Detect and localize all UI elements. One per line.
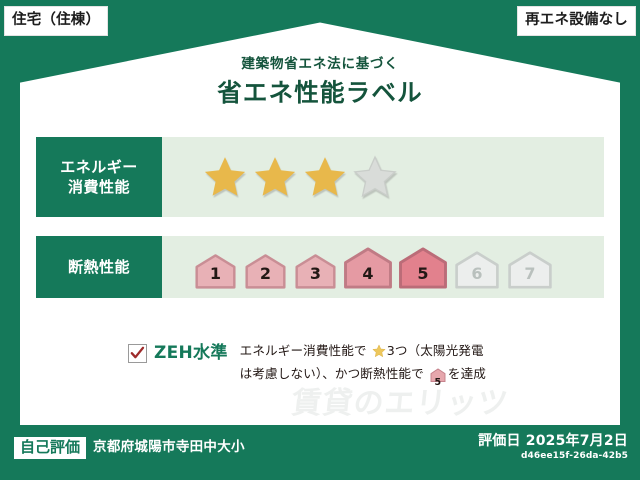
zeh-desc-l2-post: を達成 (448, 366, 486, 381)
self-evaluation-badge: 自己評価 (14, 437, 86, 459)
inline-house-number: 5 (430, 378, 446, 388)
house-icon (397, 246, 449, 289)
star-filled-icon (302, 154, 348, 200)
star-rating (202, 154, 398, 200)
house-level-2: 2 (242, 253, 289, 289)
house-level-5: 5 (397, 246, 449, 289)
zeh-badge: ZEH水準 (128, 341, 228, 363)
property-address: 京都府城陽市寺田中大小 (93, 441, 245, 455)
house-icon (505, 250, 555, 289)
zeh-desc-l2-pre: は考慮しない）、かつ断熱性能で (240, 366, 424, 381)
building-type-tag: 住宅（住棟） (4, 6, 108, 36)
energy-performance-label: 住宅（住棟） 再エネ設備なし 建築物省エネ法に基づく 省エネ性能ラベル エネルギ… (0, 0, 640, 480)
zeh-description-line2: は考慮しない）、かつ断熱性能で 5 を達成 (240, 364, 486, 388)
energy-performance-row: エネルギー 消費性能 (36, 137, 604, 217)
house-icon (452, 250, 502, 289)
evaluation-date-value: 2025年7月2日 (526, 433, 628, 449)
title-main: 省エネ性能ラベル (0, 78, 640, 107)
star-empty-icon (352, 154, 398, 200)
renewable-energy-tag: 再エネ設備なし (517, 6, 636, 36)
evaluation-id: d46ee15f-26da-42b5 (478, 452, 628, 462)
house-level-4: 4 (342, 246, 394, 289)
house-icon (192, 253, 239, 289)
energy-label-line2: 消費性能 (68, 177, 130, 197)
thermal-rating-body: 1234567 (162, 236, 604, 298)
star-filled-icon (252, 154, 298, 200)
zeh-checkbox[interactable] (128, 344, 147, 363)
page-title: 建築物省エネ法に基づく 省エネ性能ラベル (0, 56, 640, 108)
energy-rating-body (162, 137, 604, 217)
footer-bar: 自己評価 京都府城陽市寺田中大小 評価日 2025年7月2日 d46ee15f-… (0, 428, 640, 480)
zeh-desc-l1-pre: エネルギー消費性能で (240, 343, 367, 358)
zeh-section: ZEH水準 エネルギー消費性能で 3つ（太陽光発電 は考慮しない）、かつ断熱性能… (128, 341, 486, 389)
energy-performance-label-cell: エネルギー 消費性能 (36, 137, 162, 217)
house-icon (342, 246, 394, 289)
house-icon (292, 253, 339, 289)
house-rating: 1234567 (192, 246, 555, 289)
energy-label-line1: エネルギー (60, 157, 138, 177)
thermal-performance-row: 断熱性能 1234567 (36, 236, 604, 298)
star-filled-icon (202, 154, 248, 200)
zeh-description-line1: エネルギー消費性能で 3つ（太陽光発電 (240, 341, 486, 364)
house-level-3: 3 (292, 253, 339, 289)
inline-house-icon: 5 (430, 368, 446, 388)
check-icon (130, 346, 145, 361)
house-level-1: 1 (192, 253, 239, 289)
zeh-desc-l1-post: 3つ（太陽光発電 (387, 343, 484, 358)
zeh-label: ZEH水準 (154, 345, 228, 362)
evaluation-date-label: 評価日 (478, 433, 521, 449)
zeh-description: エネルギー消費性能で 3つ（太陽光発電 は考慮しない）、かつ断熱性能で 5 を達… (240, 341, 486, 389)
footer-left: 自己評価 京都府城陽市寺田中大小 (14, 437, 245, 459)
evaluation-date: 評価日 2025年7月2日 (478, 434, 628, 449)
title-subtitle: 建築物省エネ法に基づく (0, 56, 640, 72)
house-icon (242, 253, 289, 289)
house-level-7: 7 (505, 250, 555, 289)
thermal-performance-label-cell: 断熱性能 (36, 236, 162, 298)
house-level-6: 6 (452, 250, 502, 289)
footer-right: 評価日 2025年7月2日 d46ee15f-26da-42b5 (478, 434, 628, 462)
inline-star-icon (372, 344, 386, 364)
thermal-label-line1: 断熱性能 (68, 257, 130, 277)
